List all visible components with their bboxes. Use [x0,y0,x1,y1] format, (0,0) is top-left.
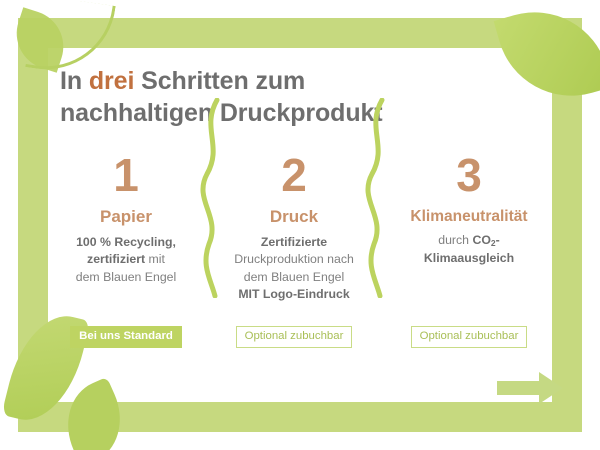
status-badge-step-3[interactable]: Optional zubuchbar [411,326,528,348]
wavy-divider-icon-1 [195,98,229,298]
title-highlight: drei [89,67,134,95]
wavy-divider-icon-2 [360,98,394,298]
step-2-regular-1: Druckproduktion nach [234,252,354,266]
content-area: In drei Schritten zum nachhaltigen Druck… [48,48,552,402]
step-1-bold-2: zertifiziert [87,252,145,266]
step-2-regular-2: dem Blauen Engel [244,270,345,284]
step-3-badge-slot: Optional zubuchbar [386,326,552,348]
step-2-bold-2: MIT Logo-Eindruck [238,287,349,301]
infographic-poster: In drei Schritten zum nachhaltigen Druck… [0,0,600,450]
step-3-bold-2: - [496,233,500,247]
step-column-2: 2 Druck Zertifizierte Druckproduktion na… [216,152,372,304]
step-3-bold-1: CO [472,233,490,247]
step-body-1: 100 % Recycling, zertifiziert mit dem Bl… [50,234,202,286]
step-2-bold-1: Zertifizierte [261,235,327,249]
step-column-1: 1 Papier 100 % Recycling, zertifiziert m… [50,152,202,286]
title-line1-post: Schritten zum [134,67,305,95]
status-badge-step-1[interactable]: Bei uns Standard [70,326,182,348]
step-title-1: Papier [50,208,202,227]
step-1-regular-1: mit [145,252,165,266]
status-badge-step-2[interactable]: Optional zubuchbar [236,326,353,348]
step-1-badge-slot: Bei uns Standard [50,326,202,348]
title-line1-pre: In [60,67,89,95]
arrow-right-icon[interactable] [497,372,563,404]
step-title-2: Druck [216,208,372,227]
step-column-3: 3 Klimaneutralität durch CO2- Klimaausgl… [386,152,552,267]
step-number-2: 2 [216,152,372,202]
step-title-3: Klimaneutralität [386,208,552,225]
step-1-regular-2: dem Blauen Engel [76,270,177,284]
step-number-1: 1 [50,152,202,202]
steps-container: 1 Papier 100 % Recycling, zertifiziert m… [48,152,552,402]
step-number-3: 3 [386,152,552,202]
page-title: In drei Schritten zum nachhaltigen Druck… [60,65,530,129]
step-body-2: Zertifizierte Druckproduktion nach dem B… [216,234,372,304]
step-3-regular-1: durch [438,233,472,247]
step-2-badge-slot: Optional zubuchbar [216,326,372,348]
step-3-bold-3: Klimaausgleich [424,251,514,265]
step-body-3: durch CO2- Klimaausgleich [386,232,552,267]
step-1-bold-1: 100 % Recycling, [76,235,176,249]
